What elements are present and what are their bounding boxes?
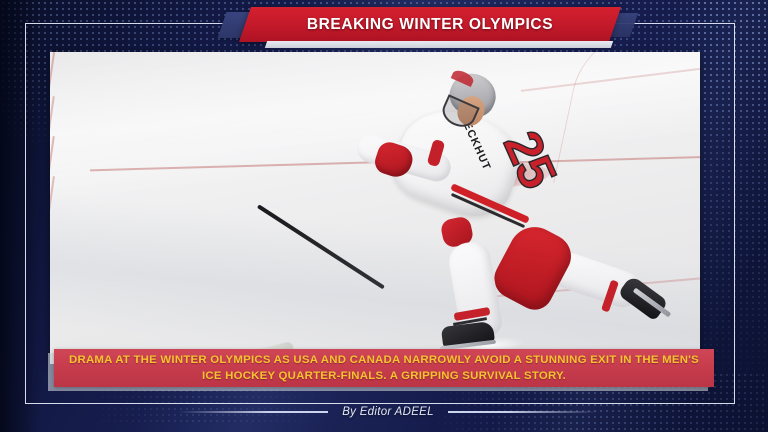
byline-rule-right <box>448 411 598 412</box>
news-graphic-stage: BREAKING WINTER OLYMPICS DECKHUT 25 <box>0 0 768 432</box>
breaking-banner-label-wrap: BREAKING WINTER OLYMPICS <box>245 7 615 42</box>
left-vignette <box>0 0 42 432</box>
caption-bar: DRAMA AT THE WINTER OLYMPICS AS USA AND … <box>54 349 714 387</box>
byline-rule-left <box>178 411 328 412</box>
hero-photo: DECKHUT 25 <box>50 52 700 364</box>
byline: By Editor ADEEL <box>178 403 598 421</box>
caption-text: DRAMA AT THE WINTER OLYMPICS AS USA AND … <box>64 352 704 384</box>
hockey-stick <box>257 204 385 289</box>
banner-underline-strip <box>265 41 613 48</box>
hockey-player-figure: DECKHUT 25 <box>50 52 700 364</box>
player-pants <box>487 218 578 316</box>
byline-text: By Editor ADEEL <box>342 406 434 418</box>
breaking-banner-text: BREAKING WINTER OLYMPICS <box>307 16 553 34</box>
